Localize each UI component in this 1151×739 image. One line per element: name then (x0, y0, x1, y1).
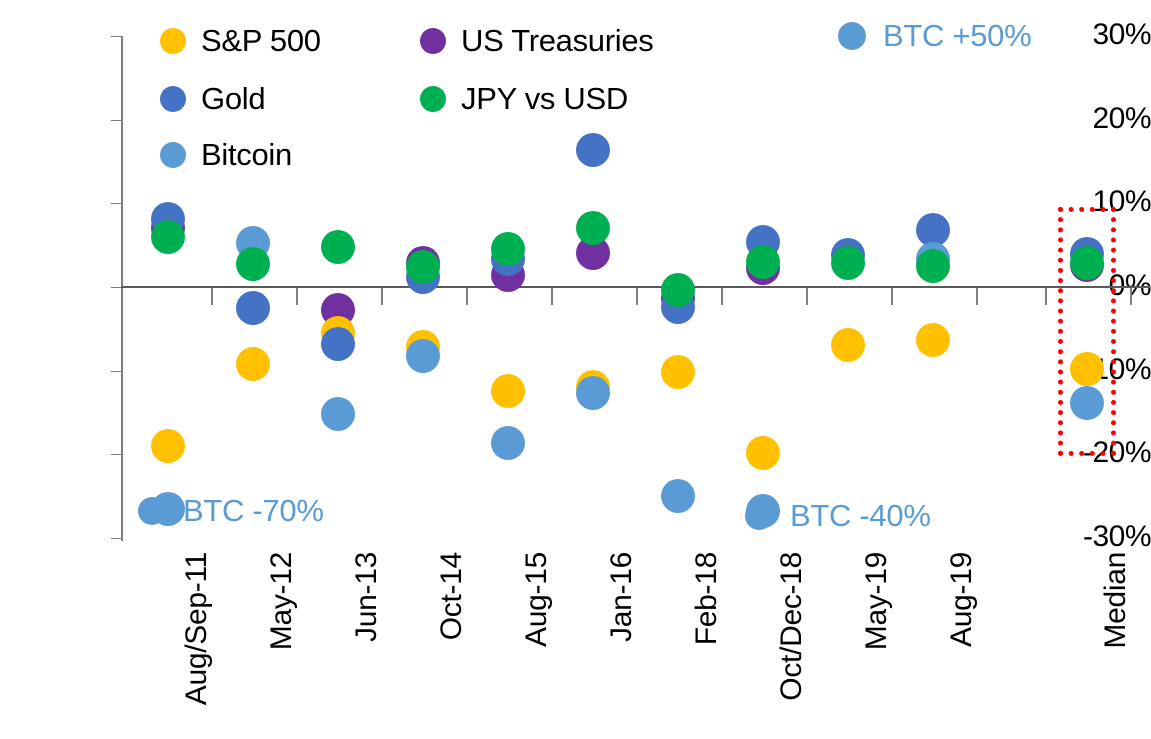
legend-swatch-icon (160, 28, 186, 54)
data-point (746, 245, 780, 279)
legend-item[interactable]: US Treasuries (420, 25, 654, 56)
x-axis-label: Aug-15 (520, 552, 554, 647)
data-point (236, 226, 270, 260)
scatter-chart: 30%20%10%0%-10%-20%-30% Aug/Sep-11May-12… (0, 0, 1151, 739)
data-point (746, 436, 780, 470)
data-point (746, 225, 780, 259)
data-point (406, 330, 440, 364)
x-axis-tick (636, 288, 638, 305)
y-axis-label: 30% (1047, 20, 1151, 50)
data-point (151, 202, 185, 236)
data-point (406, 250, 440, 284)
data-point (236, 347, 270, 381)
y-axis-label: -30% (1047, 522, 1151, 552)
legend-label: JPY vs USD (461, 83, 628, 114)
data-point (916, 242, 950, 276)
data-point (576, 133, 610, 167)
legend-item[interactable]: S&P 500 (160, 25, 321, 56)
annotation-marker-icon (138, 497, 166, 525)
x-axis-label: Aug/Sep-11 (180, 552, 214, 705)
median-highlight-box (1058, 207, 1116, 456)
data-point (576, 370, 610, 404)
legend-swatch-icon (420, 28, 446, 54)
annotation-label: BTC -40% (790, 500, 931, 531)
data-point (831, 246, 865, 280)
data-point (236, 247, 270, 281)
legend-label: S&P 500 (201, 25, 321, 56)
x-axis-tick (976, 288, 978, 305)
data-point (661, 290, 695, 324)
data-point (321, 397, 355, 431)
annotation-label: BTC +50% (883, 20, 1031, 51)
x-axis-label: May-19 (860, 552, 894, 650)
annotation-btc-down-40: BTC -40% (745, 500, 931, 531)
legend-swatch-icon (160, 142, 186, 168)
data-point (491, 232, 525, 266)
x-axis-label: Oct/Dec-18 (775, 552, 809, 701)
legend-item[interactable]: JPY vs USD (420, 83, 628, 114)
x-axis-tick (1130, 288, 1132, 305)
data-point (321, 293, 355, 327)
annotation-btc-up-50: BTC +50% (838, 20, 1031, 51)
x-axis-tick (296, 288, 298, 305)
x-axis-tick (806, 288, 808, 305)
data-point (406, 246, 440, 280)
data-point (491, 374, 525, 408)
annotation-marker-icon (838, 22, 866, 50)
legend-swatch-icon (160, 86, 186, 112)
data-point (321, 230, 355, 264)
x-axis-tick (551, 288, 553, 305)
data-point (916, 323, 950, 357)
x-axis-label: Aug-19 (945, 552, 979, 647)
data-point (151, 220, 185, 254)
x-axis-tick (1045, 288, 1047, 305)
x-axis-tick (891, 288, 893, 305)
x-axis-tick (466, 288, 468, 305)
data-point (321, 316, 355, 350)
data-point (576, 211, 610, 245)
legend-swatch-icon (420, 86, 446, 112)
annotation-marker-icon (745, 502, 773, 530)
data-point (491, 426, 525, 460)
x-axis-label: Feb-18 (690, 552, 724, 645)
x-axis-label: Jan-16 (605, 552, 639, 642)
data-point (661, 479, 695, 513)
x-axis-label: May-12 (265, 552, 299, 650)
legend-label: US Treasuries (461, 25, 654, 56)
data-point (916, 249, 950, 283)
data-point (406, 260, 440, 294)
data-point (321, 327, 355, 361)
data-point (576, 236, 610, 270)
y-axis-line (121, 36, 123, 541)
x-axis-tick (381, 288, 383, 305)
x-axis-tick (211, 288, 213, 305)
x-axis-label: Oct-14 (435, 552, 469, 640)
data-point (661, 355, 695, 389)
data-point (151, 211, 185, 245)
data-point (406, 339, 440, 373)
data-point (491, 242, 525, 276)
data-point (661, 273, 695, 307)
data-point (916, 213, 950, 247)
data-point (151, 429, 185, 463)
annotation-label: BTC -70% (183, 495, 324, 526)
y-axis-label: 20% (1047, 104, 1151, 134)
data-point (236, 291, 270, 325)
data-point (831, 328, 865, 362)
legend-label: Gold (201, 83, 265, 114)
legend-label: Bitcoin (201, 139, 292, 170)
data-point (831, 238, 865, 272)
legend-item[interactable]: Bitcoin (160, 139, 292, 170)
data-point (576, 376, 610, 410)
annotation-btc-down-70: BTC -70% (138, 495, 324, 526)
data-point (746, 251, 780, 285)
x-axis-tick (721, 288, 723, 305)
x-axis-label: Median (1099, 552, 1133, 649)
x-axis-label: Jun-13 (350, 552, 384, 642)
legend-item[interactable]: Gold (160, 83, 265, 114)
